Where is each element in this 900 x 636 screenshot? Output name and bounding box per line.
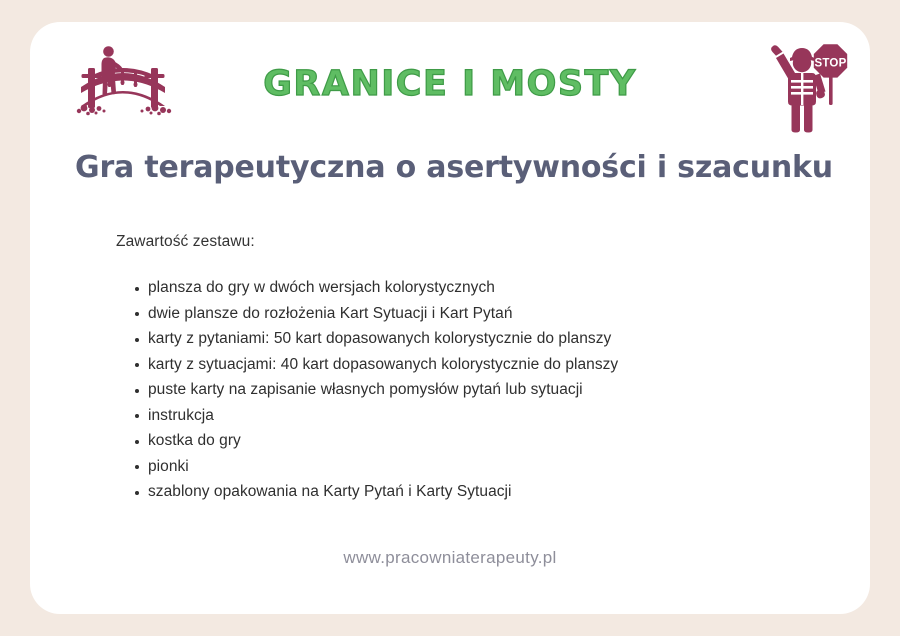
contents-list: plansza do gry w dwóch wersjach koloryst…: [116, 278, 816, 508]
content-card: STOP GRANICE I MOSTY Gra terapeutyczna o…: [30, 22, 870, 614]
contents-heading: Zawartość zestawu:: [116, 233, 255, 251]
list-item: dwie plansze do rozłożenia Kart Sytuacji…: [116, 304, 816, 324]
page-subtitle: Gra terapeutyczna o asertywności i szacu…: [74, 150, 834, 185]
list-item: karty z sytuacjami: 40 kart dopasowanych…: [116, 355, 816, 375]
list-item: szablony opakowania na Karty Pytań i Kar…: [116, 482, 816, 502]
list-item: karty z pytaniami: 50 kart dopasowanych …: [116, 329, 816, 349]
page-title: GRANICE I MOSTY: [30, 64, 870, 104]
list-item: kostka do gry: [116, 431, 816, 451]
poster-page: STOP GRANICE I MOSTY Gra terapeutyczna o…: [0, 0, 900, 636]
list-item: puste karty na zapisanie własnych pomysł…: [116, 380, 816, 400]
list-item: pionki: [116, 457, 816, 477]
footer-website-url: www.pracowniaterapeuty.pl: [30, 548, 870, 568]
list-item: instrukcja: [116, 406, 816, 426]
list-item: plansza do gry w dwóch wersjach koloryst…: [116, 278, 816, 298]
